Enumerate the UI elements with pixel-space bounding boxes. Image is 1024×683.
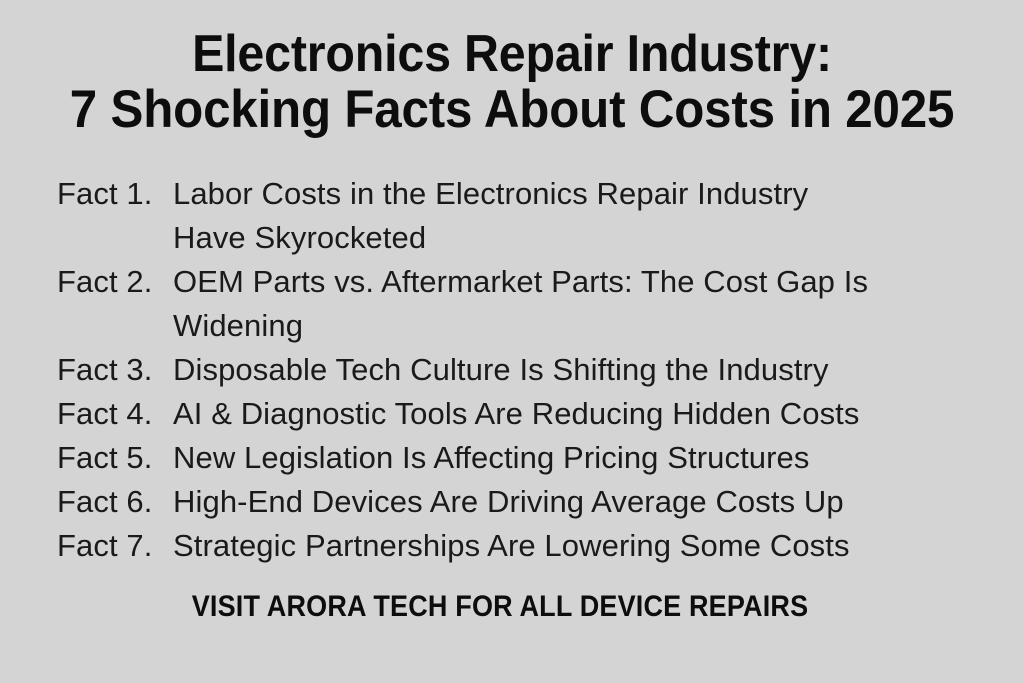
infographic-poster: Electronics Repair Industry: 7 Shocking … (0, 0, 1024, 683)
fact-text-line-1: Disposable Tech Culture Is Shifting the … (173, 348, 997, 392)
fact-text-line-1: OEM Parts vs. Aftermarket Parts: The Cos… (173, 260, 997, 304)
list-item: Fact 5. New Legislation Is Affecting Pri… (57, 436, 997, 480)
fact-text: Strategic Partnerships Are Lowering Some… (173, 524, 997, 568)
title-line-1: Electronics Repair Industry: (36, 26, 988, 82)
fact-text: New Legislation Is Affecting Pricing Str… (173, 436, 997, 480)
fact-text-line-2: Have Skyrocketed (173, 216, 997, 260)
fact-text-line-2: Widening (173, 304, 997, 348)
fact-label: Fact 7. (57, 524, 173, 568)
fact-text: OEM Parts vs. Aftermarket Parts: The Cos… (173, 260, 997, 348)
fact-text-line-1: AI & Diagnostic Tools Are Reducing Hidde… (173, 392, 997, 436)
fact-label: Fact 4. (57, 392, 173, 436)
fact-text: AI & Diagnostic Tools Are Reducing Hidde… (173, 392, 997, 436)
fact-text: Disposable Tech Culture Is Shifting the … (173, 348, 997, 392)
page-title: Electronics Repair Industry: 7 Shocking … (0, 26, 1024, 138)
list-item: Fact 1. Labor Costs in the Electronics R… (57, 172, 997, 260)
fact-text: Labor Costs in the Electronics Repair In… (173, 172, 997, 260)
title-line-2: 7 Shocking Facts About Costs in 2025 (36, 82, 988, 138)
fact-label: Fact 1. (57, 172, 173, 216)
call-to-action-text: VISIT ARORA TECH FOR ALL DEVICE REPAIRS (50, 588, 950, 626)
fact-text-line-1: New Legislation Is Affecting Pricing Str… (173, 436, 997, 480)
list-item: Fact 7. Strategic Partnerships Are Lower… (57, 524, 997, 568)
list-item: Fact 4. AI & Diagnostic Tools Are Reduci… (57, 392, 997, 436)
fact-text-line-1: Strategic Partnerships Are Lowering Some… (173, 524, 997, 568)
list-item: Fact 6. High-End Devices Are Driving Ave… (57, 480, 997, 524)
fact-label: Fact 5. (57, 436, 173, 480)
list-item: Fact 2. OEM Parts vs. Aftermarket Parts:… (57, 260, 997, 348)
fact-text-line-1: High-End Devices Are Driving Average Cos… (173, 480, 997, 524)
fact-text-line-1: Labor Costs in the Electronics Repair In… (173, 172, 997, 216)
list-item: Fact 3. Disposable Tech Culture Is Shift… (57, 348, 997, 392)
fact-text: High-End Devices Are Driving Average Cos… (173, 480, 997, 524)
facts-list: Fact 1. Labor Costs in the Electronics R… (57, 172, 997, 568)
fact-label: Fact 3. (57, 348, 173, 392)
fact-label: Fact 6. (57, 480, 173, 524)
fact-label: Fact 2. (57, 260, 173, 304)
